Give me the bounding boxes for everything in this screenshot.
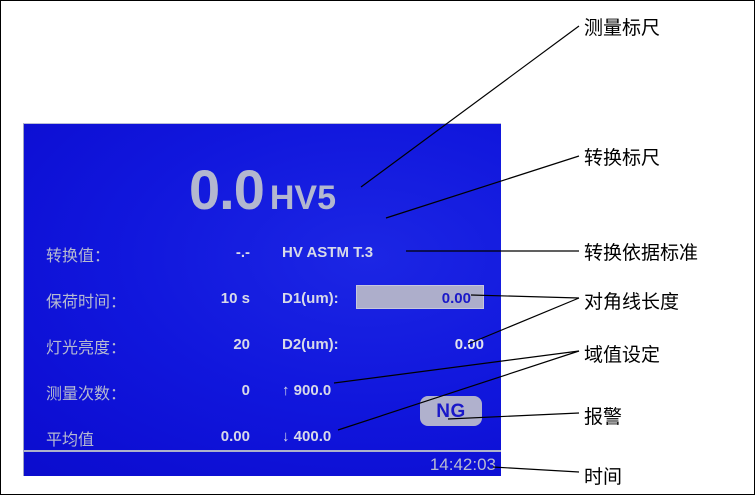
- status-bar: 14:42:03: [24, 452, 501, 476]
- annotation-convert-scale: 转换标尺: [584, 143, 660, 170]
- conversion-standard[interactable]: HV ASTM T.3: [282, 244, 373, 261]
- label-average-value: 平均值: [46, 426, 94, 450]
- screenshot-root: 0.0HV5 转换值： -.- HV ASTM T.3 保荷时间： 10 s D…: [0, 0, 755, 495]
- main-hardness-value: 0.0: [189, 158, 264, 221]
- alarm-badge[interactable]: NG: [420, 396, 482, 426]
- value-measure-count[interactable]: 0: [172, 382, 250, 399]
- upper-threshold-value[interactable]: ↑ 900.0: [282, 382, 331, 399]
- label-d1: D1(um):: [282, 290, 339, 307]
- main-hardness-scale: HV5: [270, 179, 336, 217]
- value-d1: 0.00: [442, 290, 471, 307]
- lower-threshold-value[interactable]: ↓ 400.0: [282, 428, 331, 445]
- annotation-threshold-setting: 域值设定: [584, 340, 660, 367]
- main-reading: 0.0HV5: [24, 162, 501, 218]
- label-d2: D2(um):: [282, 336, 339, 353]
- leader-time: [493, 467, 579, 472]
- value-converted-value[interactable]: -.-: [172, 244, 250, 261]
- value-d2[interactable]: 0.00: [354, 336, 484, 353]
- measurement-data-grid: 转换值： -.- HV ASTM T.3 保荷时间： 10 s D1(um): …: [24, 236, 501, 466]
- row-light-brightness: 灯光亮度： 20 D2(um): 0.00: [24, 328, 501, 374]
- annotation-alarm: 报警: [584, 402, 622, 429]
- value-light-brightness[interactable]: 20: [172, 336, 250, 353]
- label-light-brightness: 灯光亮度：: [46, 334, 126, 358]
- annotation-diagonal-length: 对角线长度: [584, 287, 679, 314]
- row-dwell-time: 保荷时间： 10 s D1(um): 0.00: [24, 282, 501, 328]
- label-measure-count: 测量次数：: [46, 380, 126, 404]
- annotation-time: 时间: [584, 462, 622, 489]
- label-dwell-time: 保荷时间：: [46, 288, 126, 312]
- annotation-convert-standard: 转换依据标准: [584, 238, 698, 265]
- value-dwell-time[interactable]: 10 s: [172, 290, 250, 307]
- alarm-badge-label: NG: [420, 401, 482, 423]
- value-average-value[interactable]: 0.00: [172, 428, 250, 445]
- clock-readout: 14:42:03: [430, 455, 496, 475]
- annotation-measure-scale: 测量标尺: [584, 13, 660, 40]
- label-converted-value: 转换值：: [46, 242, 110, 266]
- row-converted-value: 转换值： -.- HV ASTM T.3: [24, 236, 501, 282]
- d1-input-field[interactable]: 0.00: [356, 285, 484, 309]
- hardness-tester-display[interactable]: 0.0HV5 转换值： -.- HV ASTM T.3 保荷时间： 10 s D…: [23, 123, 501, 476]
